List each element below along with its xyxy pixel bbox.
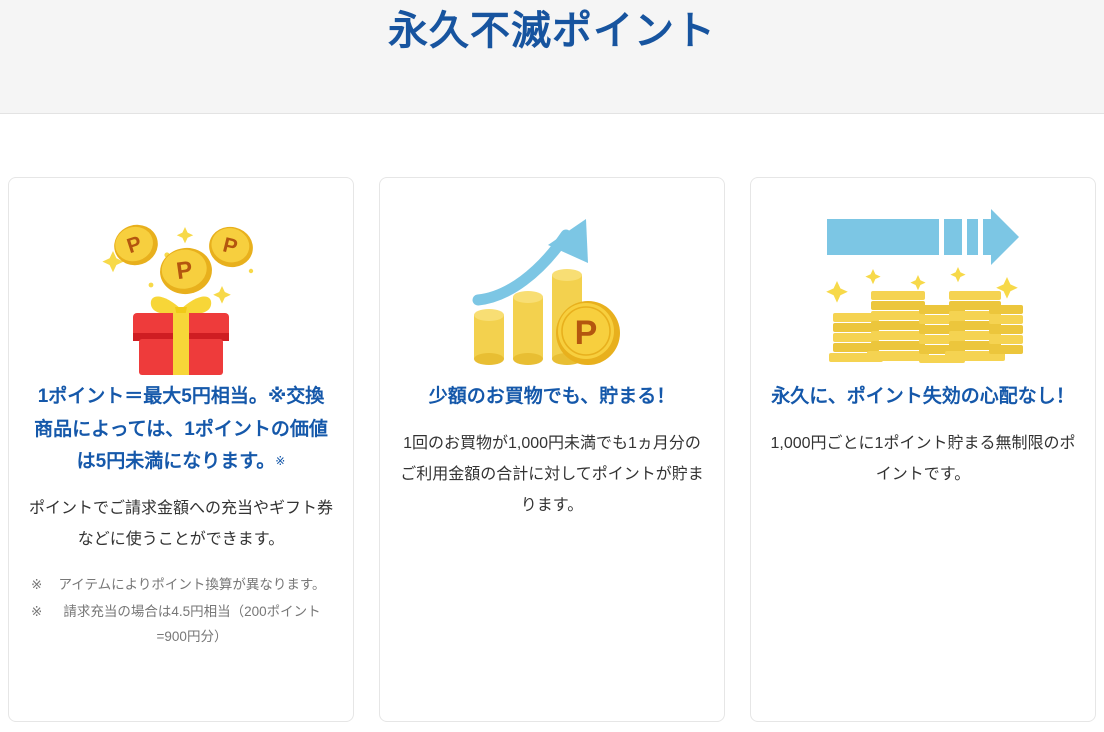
card-1-note-1: ※ アイテムによりポイント換算が異なります。 [31,573,331,598]
note-text: アイテムによりポイント換算が異なります。 [53,573,331,598]
card-2-heading-text: 少額のお買物でも、貯まる！ [429,386,675,407]
card-3-heading: 永久に、ポイント失効の心配なし！ [771,381,1074,414]
card-1-heading: 1ポイント＝最大5円相当。※交換商品によっては、1ポイントの価値は5円未満になり… [29,381,334,479]
svg-text:P: P [575,314,598,352]
feature-cards-row: P P P [8,177,1096,722]
card-3-body: 1,000円ごとに1ポイント貯まる無制限のポイントです。 [768,428,1078,490]
feature-card-1: P P P [8,177,354,722]
card-1-body: ポイントでご請求金額への充当やギフト券などに使うことができます。 [26,493,336,555]
card-2-heading: 少額のお買物でも、貯まる！ [429,381,675,414]
card-1-note-2: ※ 請求充当の場合は4.5円相当（200ポイント=900円分） [31,600,331,650]
note-mark-icon: ※ [31,573,53,598]
feature-card-3: 永久に、ポイント失効の心配なし！ 1,000円ごとに1ポイント貯まる無制限のポイ… [750,177,1096,722]
note-text: 請求充当の場合は4.5円相当（200ポイント=900円分） [53,600,331,650]
card-2-body: 1回のお買物が1,000円未満でも1ヵ月分のご利用金額の合計に対してポイントが貯… [397,428,707,522]
note-mark-icon: ※ [31,600,53,650]
page-title: 永久不滅ポイント [388,6,716,56]
coin-stacks-with-arrow-icon [823,202,1023,377]
gift-box-with-points-icon: P P P [91,202,271,377]
card-1-heading-mark: ※ [275,454,285,468]
feature-card-2: P 少額のお買物でも、貯まる！ 1回のお買物が1,000円未満でも1ヵ月分のご利… [379,177,725,722]
card-1-notes: ※ アイテムによりポイント換算が異なります。 ※ 請求充当の場合は4.5円相当（… [31,573,331,652]
growth-chart-with-point-icon: P [462,202,642,377]
page-header: 永久不滅ポイント [0,0,1104,114]
page-root: 永久不滅ポイント [0,0,1104,732]
card-3-heading-text: 永久に、ポイント失効の心配なし！ [771,386,1074,407]
